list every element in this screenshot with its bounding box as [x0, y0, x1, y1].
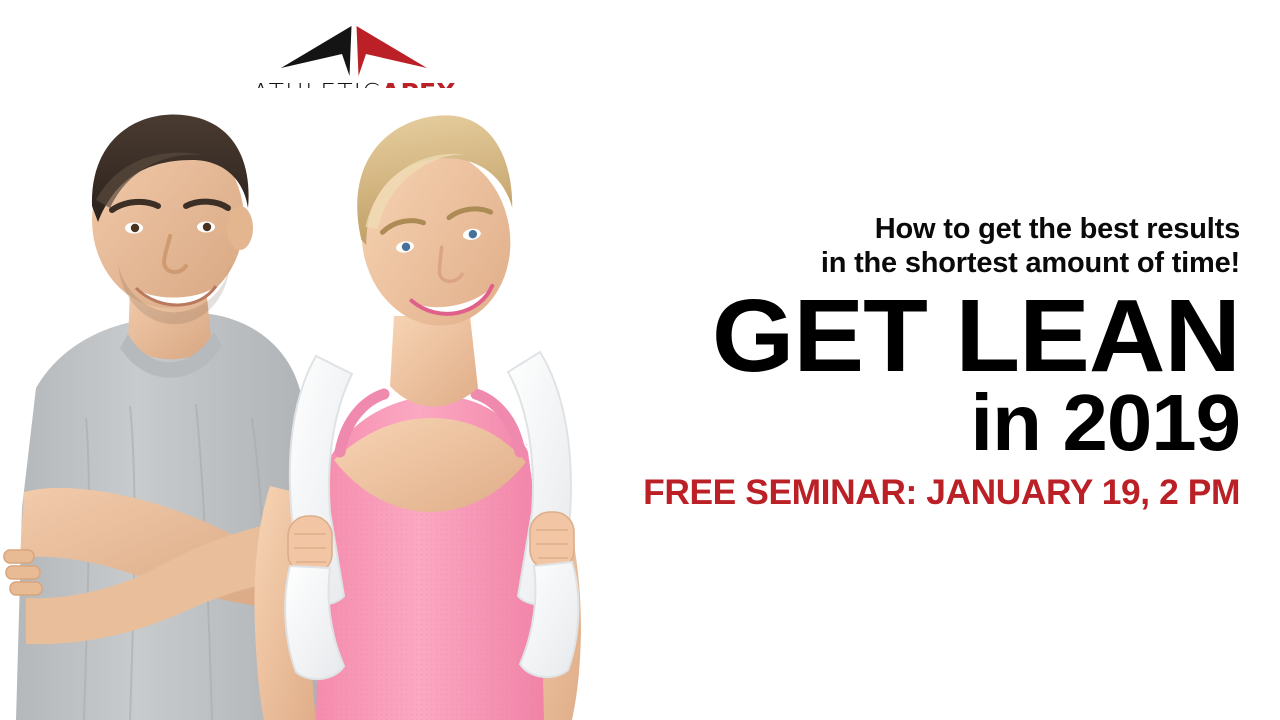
- kicker-line-2: in the shortest amount of time!: [620, 246, 1240, 280]
- kicker-line-1: How to get the best results: [620, 212, 1240, 246]
- seminar-details: FREE SEMINAR: JANUARY 19, 2 PM: [614, 472, 1240, 514]
- headline-in-2019: in 2019: [608, 384, 1240, 462]
- headline-get-lean: GET LEAN: [601, 290, 1240, 382]
- promo-copy-block: How to get the best results in the short…: [620, 212, 1240, 514]
- poster-canvas: ATHLETICAPEX HEALTH CLUBS: [0, 0, 1280, 720]
- fitness-couple-photo: [0, 88, 640, 720]
- chevron-logo-icon: [279, 24, 429, 76]
